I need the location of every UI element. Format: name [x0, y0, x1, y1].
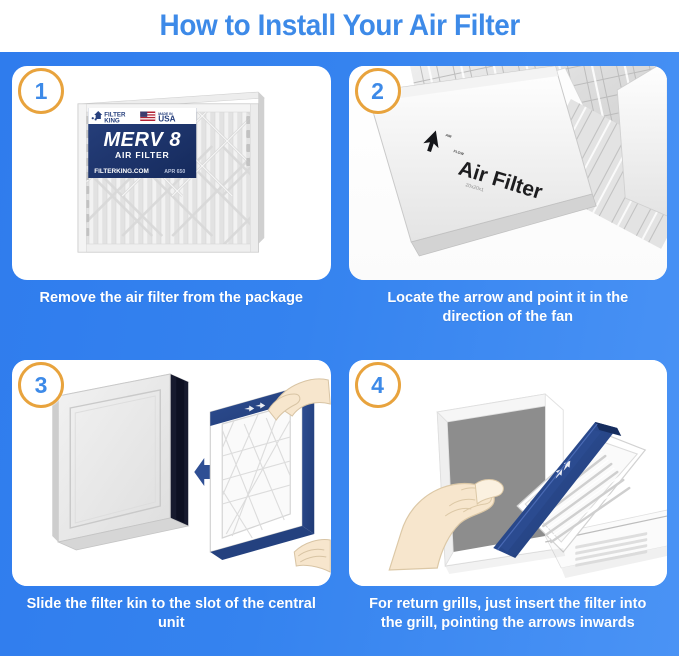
svg-text:FILTERKING.COM: FILTERKING.COM [94, 168, 149, 175]
step-3-number: 3 [35, 374, 48, 397]
svg-text:MERV 8: MERV 8 [104, 129, 182, 151]
svg-text:USA: USA [158, 115, 175, 124]
step-2-number: 2 [371, 80, 384, 103]
step-3-number-badge: 3 [18, 362, 64, 408]
step-1-number-badge: 1 [18, 68, 64, 114]
step-2: AIR FLOW Air Filter 20x20x1 2 Locate [349, 66, 668, 352]
page-title: How to Install Your Air Filter [159, 9, 519, 43]
step-1-card: FILTER KING MADE IN USA [12, 66, 331, 280]
svg-text:AIR FILTER: AIR FILTER [115, 150, 170, 160]
steps-grid: FILTER KING MADE IN USA [0, 52, 679, 656]
step-2-number-badge: 2 [355, 68, 401, 114]
step-4-caption: For return grills, just insert the filte… [349, 595, 668, 632]
infographic-page: How to Install Your Air Filter [0, 0, 679, 656]
svg-text:APR 650: APR 650 [164, 169, 185, 175]
step-3: 3 Slide the filter kin to the slot of th… [12, 360, 331, 646]
title-bar: How to Install Your Air Filter [0, 0, 679, 52]
svg-text:KING: KING [104, 117, 120, 124]
step-1-caption: Remove the air filter from the package [12, 289, 331, 308]
step-4: 4 For return grills, just insert the fil… [349, 360, 668, 646]
step-4-number-badge: 4 [355, 362, 401, 408]
step-3-card: 3 [12, 360, 331, 586]
step-4-number: 4 [371, 374, 384, 397]
step-2-caption: Locate the arrow and point it in the dir… [349, 289, 668, 326]
step-2-card: AIR FLOW Air Filter 20x20x1 2 [349, 66, 668, 280]
step-4-card: 4 [349, 360, 668, 586]
step-1: FILTER KING MADE IN USA [12, 66, 331, 352]
step-3-caption: Slide the filter kin to the slot of the … [12, 595, 331, 632]
step-1-number: 1 [35, 80, 48, 103]
